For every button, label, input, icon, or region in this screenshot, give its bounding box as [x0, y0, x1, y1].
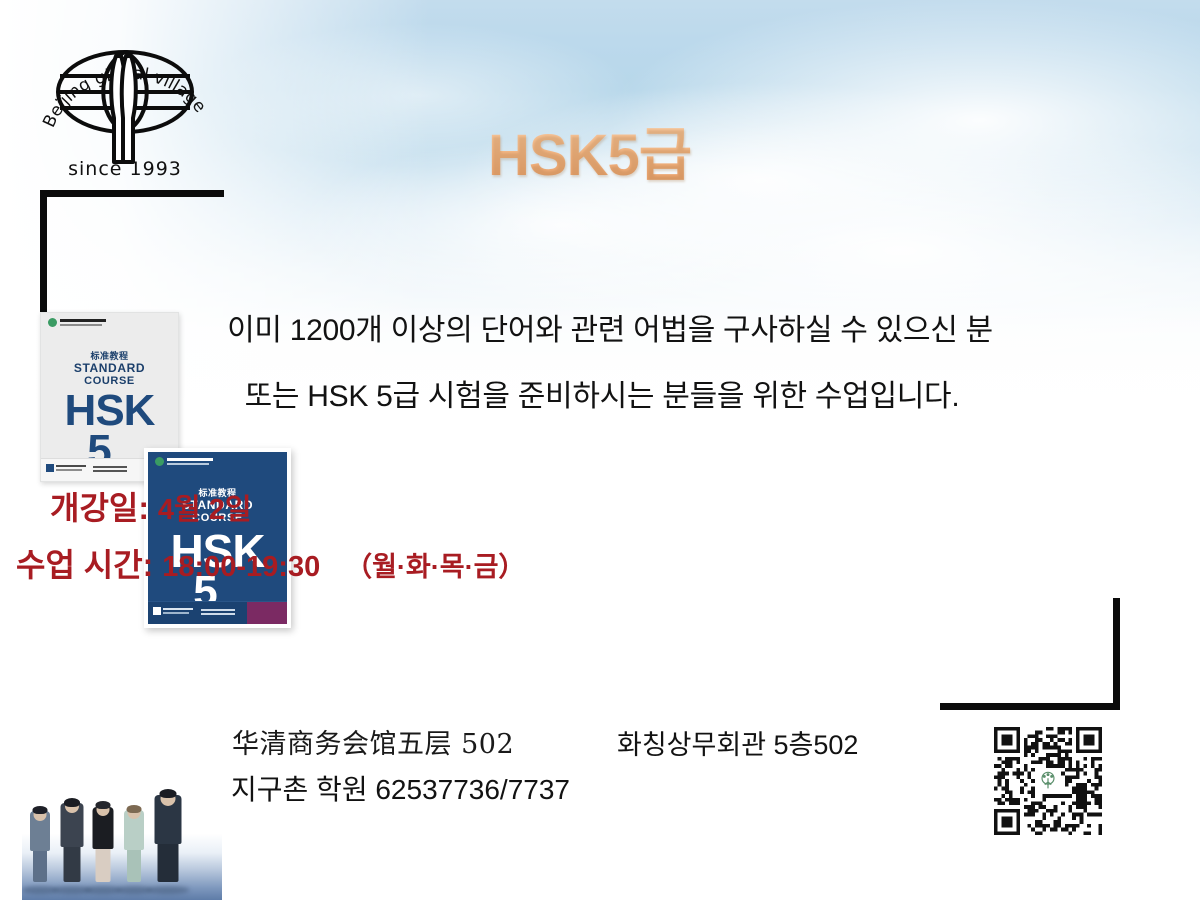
- business-people-photo: [22, 752, 222, 900]
- class-time-label: 수업 시간:: [16, 547, 153, 583]
- person-figure: [154, 776, 181, 882]
- publisher-logo-icon: [155, 457, 213, 466]
- blue-book-footer: [148, 601, 287, 624]
- person-figure: [124, 794, 144, 882]
- class-days: （월·화·목·금）: [329, 552, 525, 582]
- academy-contact: 지구촌 학원 62537736/7737: [231, 768, 570, 808]
- qr-code[interactable]: [994, 727, 1102, 835]
- start-date-label: 개강일:: [50, 490, 149, 526]
- class-time-row: 수업 시간: 18:00-19:30 （월·화·목·금）: [0, 536, 1200, 596]
- start-date-row: 개강일: 4월 2일: [0, 482, 1200, 536]
- logo-since-text: since 1993: [36, 158, 214, 180]
- person-figure: [30, 796, 50, 882]
- address-chinese: 华清商务会馆五层 502: [232, 722, 514, 761]
- start-date-value: 4월 2일: [158, 494, 252, 526]
- bracket-bottom-right-horizontal: [940, 703, 1120, 710]
- class-time-value: 18:00-19:30: [162, 551, 320, 583]
- bracket-bottom-right-vertical: [1113, 598, 1120, 710]
- schedule-block: 개강일: 4월 2일 수업 시간: 18:00-19:30 （월·화·목·금）: [0, 482, 1200, 596]
- poster-title: HSK5급: [488, 127, 691, 185]
- person-figure: [60, 786, 83, 882]
- bracket-top-left-horizontal: [40, 190, 224, 197]
- tree-logo-icon: [1037, 770, 1059, 792]
- qr-center-logo: [1035, 768, 1061, 794]
- person-figure: [92, 790, 113, 882]
- school-logo: Beijing global village school since 1993: [36, 14, 214, 189]
- poster-root: Beijing global village school since 1993…: [0, 0, 1200, 900]
- description-block: 이미 1200개 이상의 단어와 관련 어법을 구사하실 수 있으신 분 또는 …: [0, 298, 1200, 430]
- description-line-2: 또는 HSK 5급 시험을 준비하시는 분들을 위한 수업입니다.: [0, 364, 1200, 430]
- address-korean: 화칭상무회관 5층502: [617, 723, 858, 762]
- bracket-top-left-vertical: [40, 190, 47, 313]
- description-line-1: 이미 1200개 이상의 단어와 관련 어법을 구사하실 수 있으신 분: [0, 298, 1200, 364]
